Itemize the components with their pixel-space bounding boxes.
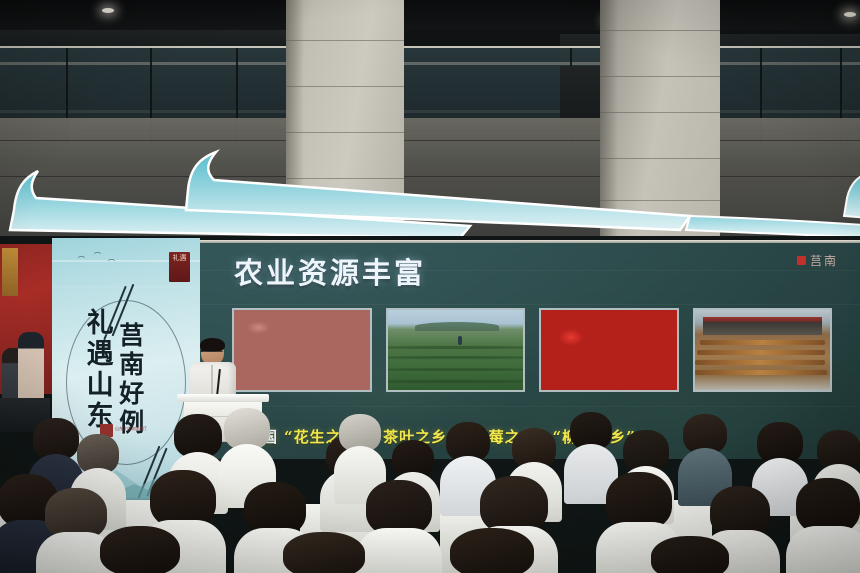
logo-text: 莒南 bbox=[810, 252, 838, 269]
crop-row bbox=[386, 356, 526, 359]
stone-seam bbox=[286, 40, 404, 41]
ceiling-light bbox=[844, 12, 856, 17]
scanline bbox=[200, 406, 860, 407]
slide-logo: 莒南 bbox=[797, 252, 838, 269]
bird-silhouette: ︵ bbox=[108, 255, 115, 262]
slide-image-row bbox=[232, 308, 832, 392]
head bbox=[283, 532, 365, 573]
hill-silhouette bbox=[415, 322, 499, 331]
willow-bale-row bbox=[697, 350, 824, 355]
audience-group bbox=[0, 408, 860, 573]
stone-seam bbox=[600, 112, 720, 113]
bird-silhouette: ︵ bbox=[94, 248, 101, 255]
scanline bbox=[200, 304, 860, 305]
shoulders bbox=[786, 526, 860, 573]
willow-weaving-photo bbox=[695, 310, 831, 390]
stone-seam bbox=[600, 30, 720, 31]
side-attendee bbox=[18, 332, 44, 404]
willow-bale-row bbox=[700, 340, 825, 345]
workshop-shed bbox=[703, 317, 822, 335]
stone-seam bbox=[600, 76, 720, 77]
stone-seam bbox=[286, 132, 404, 133]
head bbox=[651, 536, 729, 573]
audience-member bbox=[88, 526, 192, 573]
presenter-glasses bbox=[202, 351, 223, 355]
audience-member bbox=[640, 536, 740, 573]
slide-image-peanuts bbox=[232, 308, 372, 392]
slide-image-tea-field bbox=[386, 308, 526, 392]
presenter-hair bbox=[200, 338, 225, 352]
crop-row bbox=[386, 368, 526, 371]
gold-accent bbox=[2, 248, 18, 296]
head bbox=[450, 528, 534, 573]
crop-row bbox=[386, 346, 526, 349]
lectern-top bbox=[177, 394, 269, 402]
photo-scene: ︵ ︵ ︵ 礼遇 礼遇山东 莒南好例 山东文化和旅游厅 bbox=[0, 0, 860, 573]
logo-seal-icon bbox=[797, 256, 806, 265]
crop-row bbox=[386, 380, 526, 383]
audience-member bbox=[438, 528, 546, 573]
glass-rail bbox=[0, 110, 860, 113]
ceiling-light bbox=[102, 8, 114, 13]
ceiling-soffit bbox=[0, 0, 860, 30]
strawberries-photo bbox=[541, 310, 677, 390]
stone-seam bbox=[286, 86, 404, 87]
bird-silhouette: ︵ bbox=[78, 252, 85, 259]
willow-bale-row bbox=[695, 360, 825, 365]
audience-member bbox=[786, 478, 860, 573]
peanuts-photo bbox=[234, 310, 370, 390]
slide-image-willow-weaving bbox=[693, 308, 833, 392]
slide-image-strawberries bbox=[539, 308, 679, 392]
banner-seal-stamp: 礼遇 bbox=[169, 252, 190, 282]
audience-member bbox=[272, 532, 376, 573]
willow-bale-row bbox=[695, 370, 828, 375]
slide-title: 农业资源丰富 bbox=[234, 250, 426, 292]
tea-field-photo bbox=[388, 310, 524, 390]
head bbox=[100, 526, 180, 573]
farmer-silhouette bbox=[458, 336, 462, 345]
glass-rail bbox=[0, 62, 860, 65]
